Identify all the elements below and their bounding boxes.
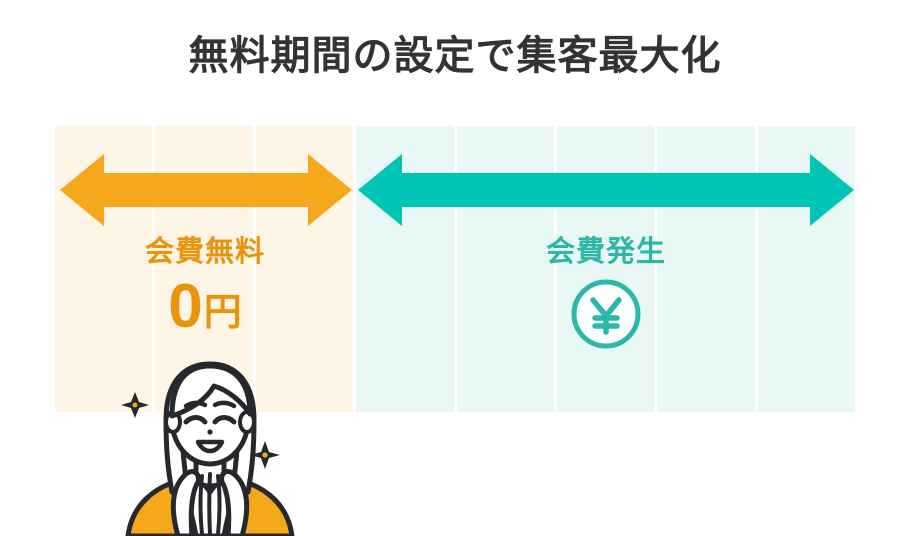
- page-title: 無料期間の設定で集客最大化: [0, 32, 910, 80]
- price-amount: 0: [168, 272, 202, 341]
- character-mouth: [198, 442, 222, 451]
- yen-circle-icon: [570, 278, 642, 350]
- free-section-label: 会費無料: [55, 228, 355, 270]
- character-nose: [207, 429, 212, 434]
- free-price: 0円: [55, 276, 355, 338]
- character-illustration: [110, 358, 310, 536]
- infographic-canvas: 無料期間の設定で集客最大化 会費無料 0円 会費発生: [0, 0, 910, 536]
- price-unit: 円: [204, 292, 242, 334]
- paid-section-label: 会費発生: [356, 228, 856, 270]
